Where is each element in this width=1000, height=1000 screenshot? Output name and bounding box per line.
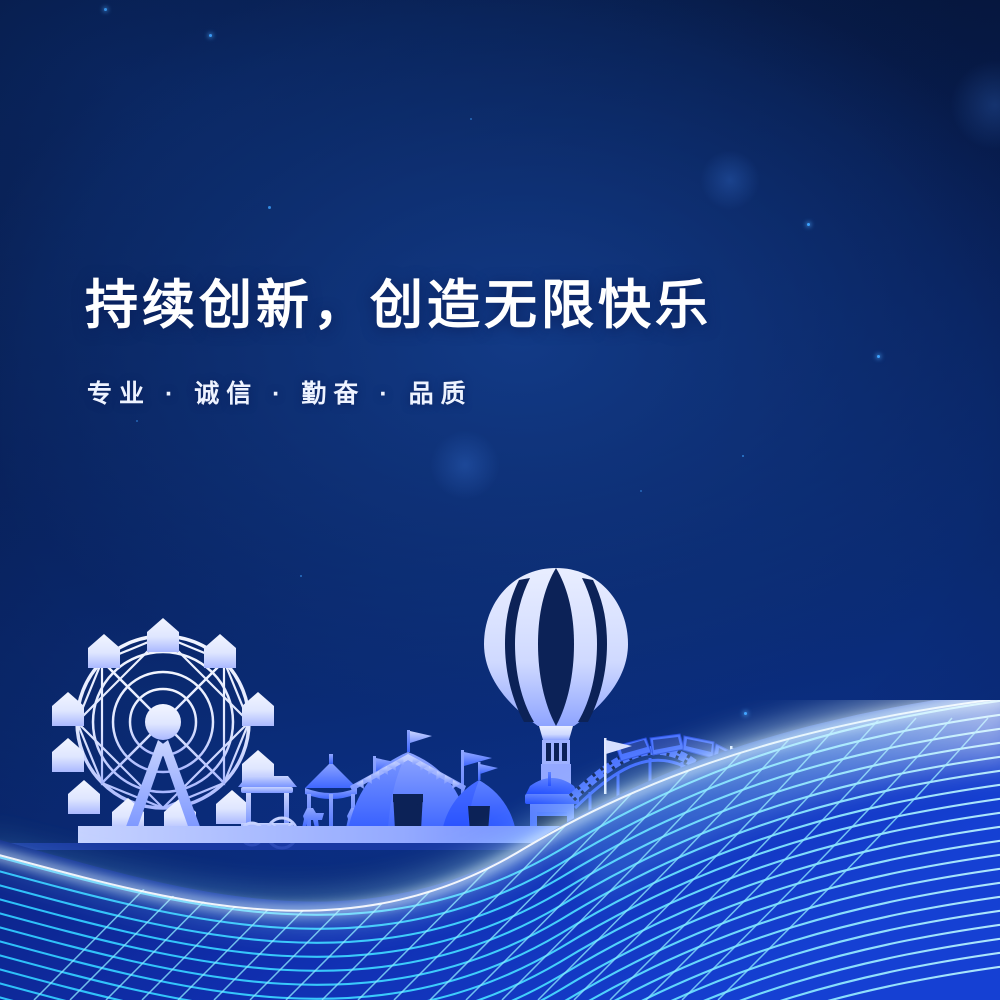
glowing-wave-mesh <box>0 700 1000 1000</box>
page-subtitle: 专业 · 诚信 · 勤奋 · 品质 <box>87 374 473 410</box>
page-title: 持续创新，创造无限快乐 <box>85 263 712 339</box>
promo-banner: 持续创新，创造无限快乐 专业 · 诚信 · 勤奋 · 品质 <box>0 0 1000 1000</box>
